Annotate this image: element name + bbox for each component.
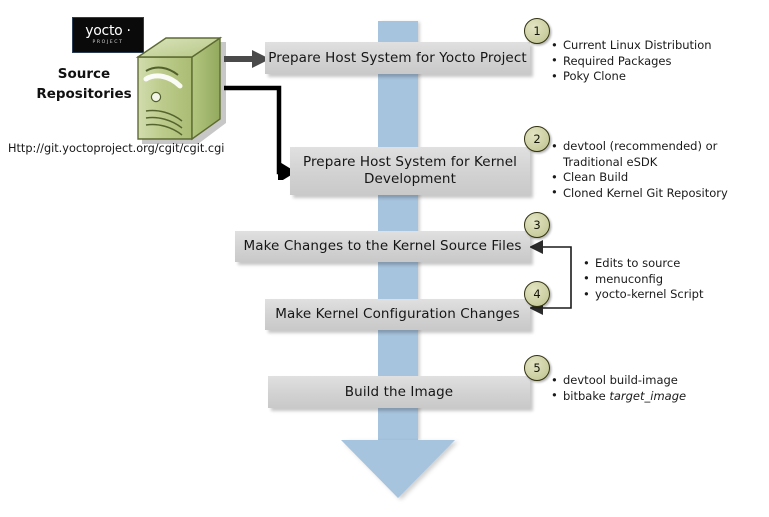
connector-server-to-step2	[224, 84, 294, 180]
list-item: devtool (recommended) or Traditional eSD…	[551, 139, 729, 170]
bullet-list-step2: devtool (recommended) or Traditional eSD…	[551, 139, 729, 201]
list-item: menuconfig	[583, 272, 704, 288]
step-number-2: 2	[524, 126, 550, 152]
diagram-canvas: yocto · PROJECT Source Repositories Http…	[0, 0, 769, 517]
bullet-list-step3-step4: Edits to source menuconfig yocto-kernel …	[583, 256, 704, 303]
list-item: yocto-kernel Script	[583, 287, 704, 303]
process-box-step5[interactable]: Build the Image	[268, 376, 530, 408]
server-tower-icon	[134, 35, 226, 147]
step-number-4: 4	[524, 281, 550, 307]
list-item: Edits to source	[583, 256, 704, 272]
process-box-step2[interactable]: Prepare Host System for Kernel Developme…	[290, 147, 530, 195]
list-item: bitbake target_image	[551, 389, 686, 405]
flow-arrowhead-icon	[341, 440, 455, 498]
logo-subtitle: PROJECT	[92, 39, 123, 46]
process-box-step3[interactable]: Make Changes to the Kernel Source Files	[235, 231, 530, 262]
process-box-step4[interactable]: Make Kernel Configuration Changes	[265, 299, 530, 330]
list-item-text: devtool build-image	[563, 373, 678, 387]
bullet-list-step1: Current Linux Distribution Required Pack…	[551, 38, 712, 85]
logo-wordmark: yocto ·	[85, 24, 130, 38]
list-item: Clean Build	[551, 170, 729, 186]
bullet-list-step5: devtool build-image bitbake target_image	[551, 373, 686, 404]
list-item-emphasis: target_image	[609, 389, 686, 403]
list-item-text: bitbake	[563, 389, 609, 403]
process-box-step1[interactable]: Prepare Host System for Yocto Project	[265, 42, 530, 74]
list-item: Current Linux Distribution	[551, 38, 712, 54]
step-number-5: 5	[524, 355, 550, 381]
list-item: Cloned Kernel Git Repository	[551, 186, 729, 202]
list-item: Poky Clone	[551, 69, 712, 85]
source-repositories-label: Source Repositories	[28, 64, 140, 104]
list-item: Required Packages	[551, 54, 712, 70]
list-item: devtool build-image	[551, 373, 686, 389]
step-number-1: 1	[524, 18, 550, 44]
step-number-3: 3	[524, 212, 550, 238]
